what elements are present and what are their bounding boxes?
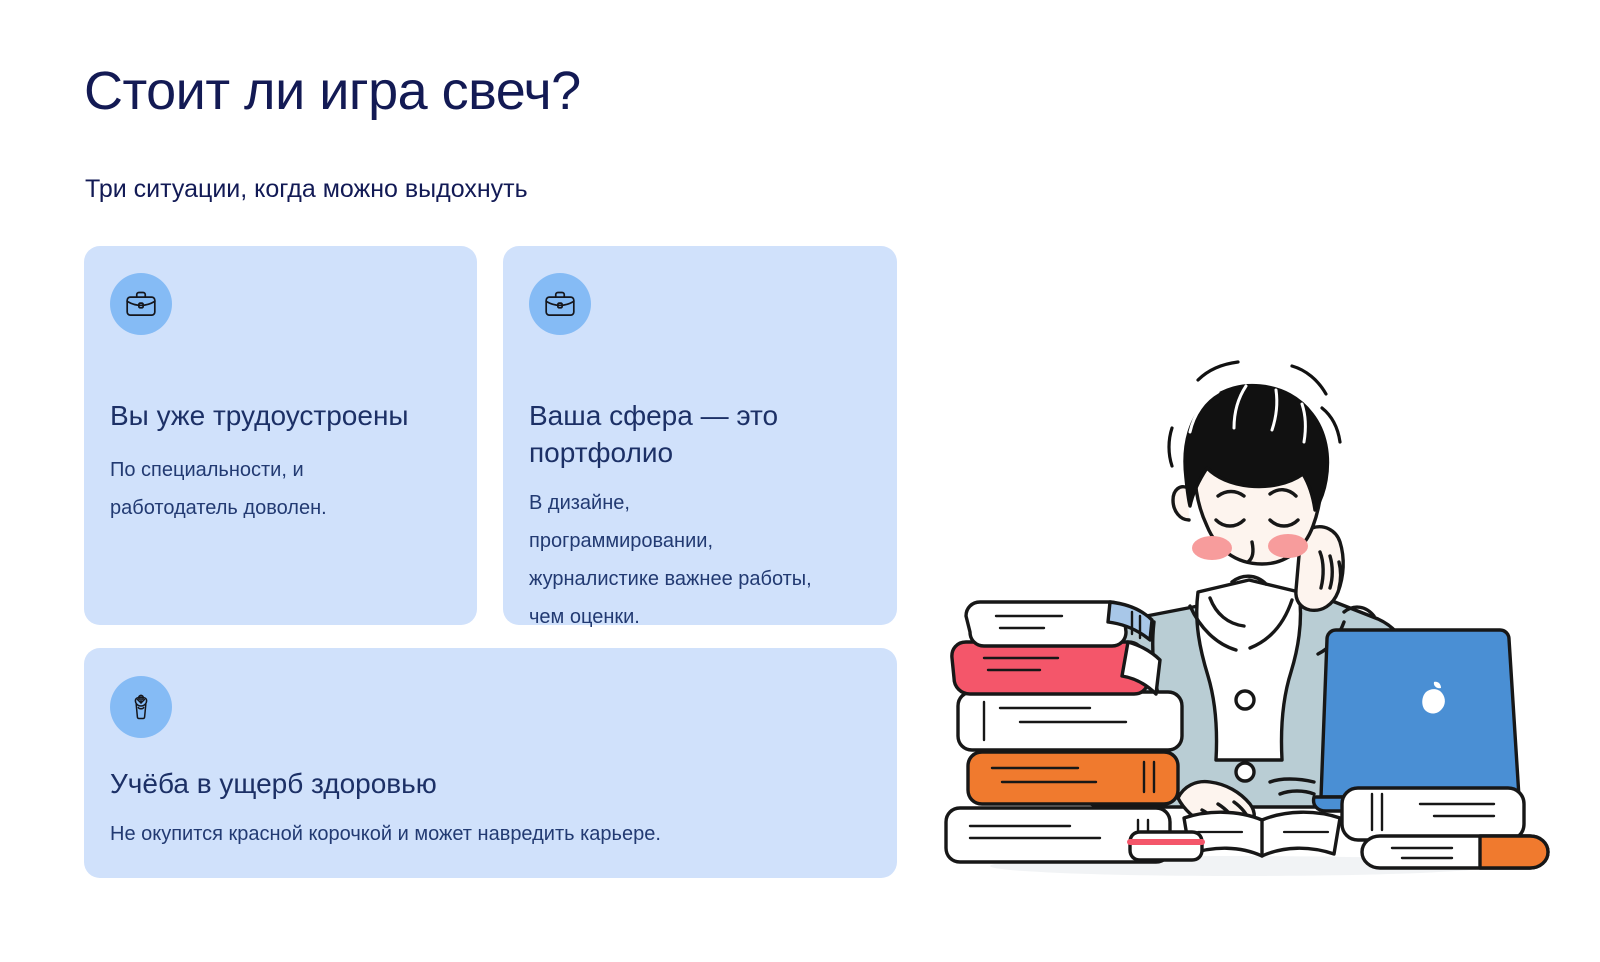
info-card-portfolio[interactable]: Ваша сфера — это портфолио В дизайне, пр… xyxy=(503,246,897,625)
card-body: В дизайне, программировании, журналистик… xyxy=(529,484,819,636)
briefcase-icon xyxy=(529,273,591,335)
card-body: По специальности, и работодатель доволен… xyxy=(110,451,360,527)
page-subtitle: Три ситуации, когда можно выдохнуть xyxy=(85,174,528,205)
tired-student-illustration xyxy=(940,320,1560,880)
info-card-employed[interactable]: Вы уже трудоустроены По специальности, и… xyxy=(84,246,477,625)
page-title: Стоит ли игра свеч? xyxy=(84,62,581,121)
flower-bud-icon xyxy=(110,676,172,738)
info-card-health[interactable]: Учёба в ущерб здоровью Не окупится красн… xyxy=(84,648,897,878)
card-title: Ваша сфера — это портфолио xyxy=(529,397,829,471)
card-title: Учёба в ущерб здоровью xyxy=(110,765,810,802)
card-body: Не окупится красной корочкой и может нав… xyxy=(110,820,870,848)
briefcase-icon xyxy=(110,273,172,335)
card-title: Вы уже трудоустроены xyxy=(110,397,450,434)
slide-root: Стоит ли игра свеч? Три ситуации, когда … xyxy=(0,0,1600,962)
